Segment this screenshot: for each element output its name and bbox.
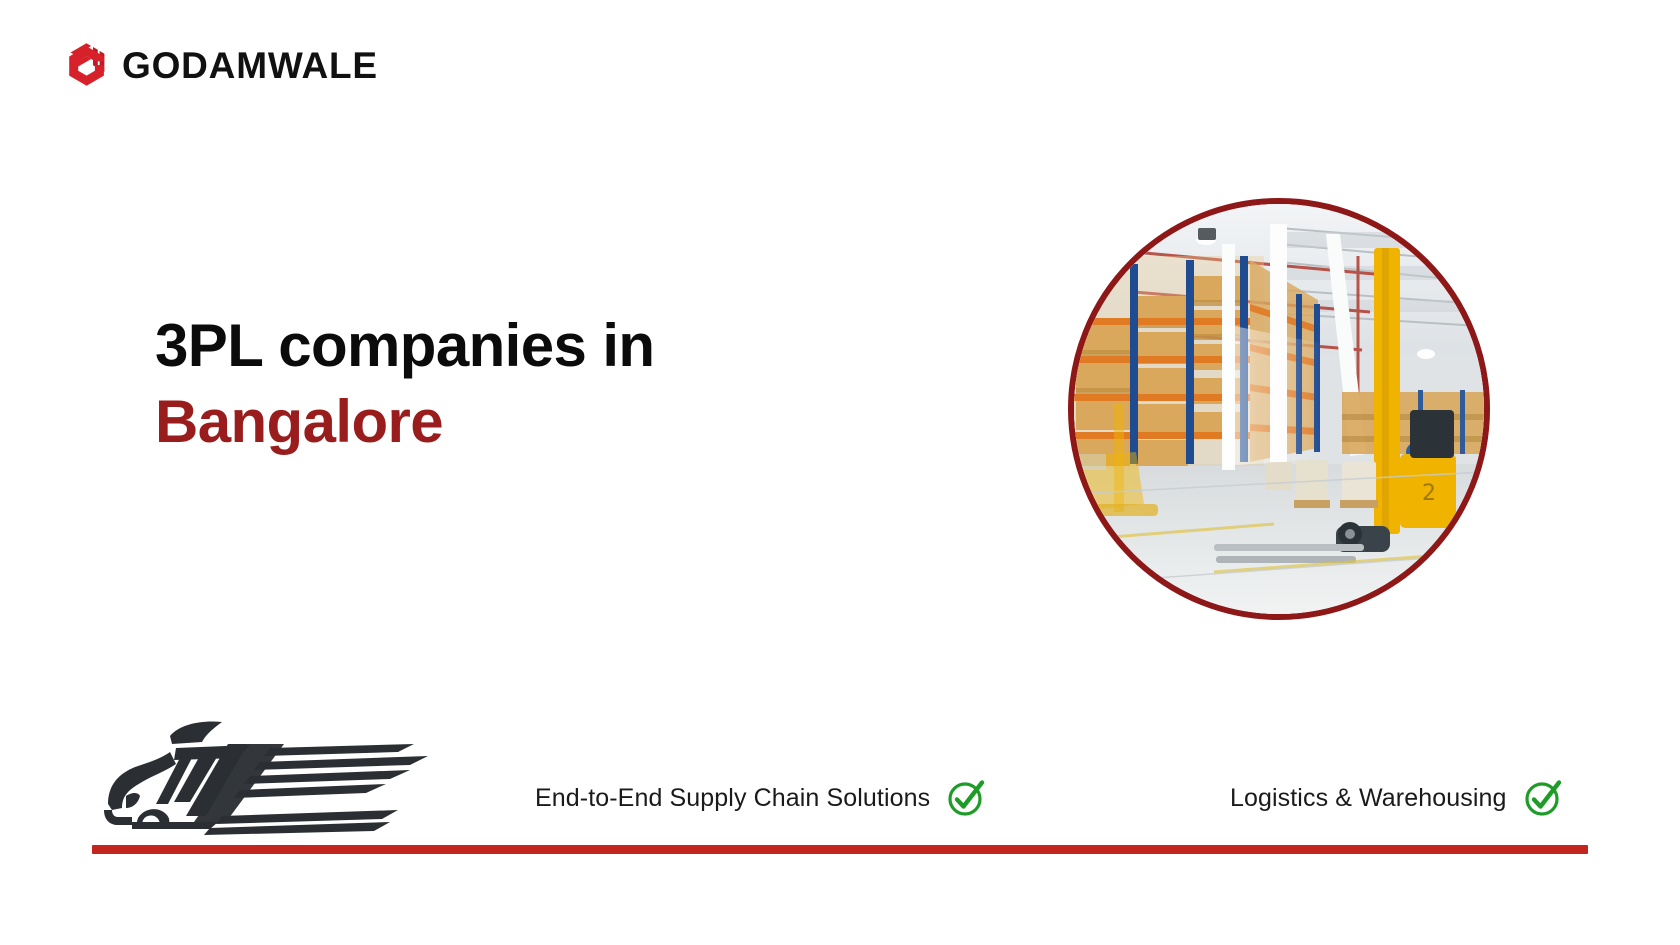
feature-item-2: Logistics & Warehousing [1230,778,1563,818]
feature-label-2: Logistics & Warehousing [1230,784,1507,813]
svg-text:2: 2 [1422,481,1436,506]
page-title: 3PL companies in Bangalore [155,308,875,459]
bottom-divider [92,845,1588,854]
headline-line-2: Bangalore [155,384,875,460]
green-check-circle-icon [946,778,986,818]
hero-image-circle: 2 [1068,198,1490,620]
warehouse-photo: 2 [1074,204,1484,614]
speeding-truck-icon [98,718,428,838]
feature-label-1: End-to-End Supply Chain Solutions [535,784,930,813]
green-check-circle-icon [1523,778,1563,818]
feature-item-1: End-to-End Supply Chain Solutions [535,778,986,818]
brand-name: GODAMWALE [122,47,378,84]
headline-line-1: 3PL companies in [155,308,875,384]
godamwale-cube-icon [64,40,110,90]
slide-canvas: GODAMWALE 3PL companies in Bangalore [0,0,1680,945]
brand-logo[interactable]: GODAMWALE [64,40,378,90]
